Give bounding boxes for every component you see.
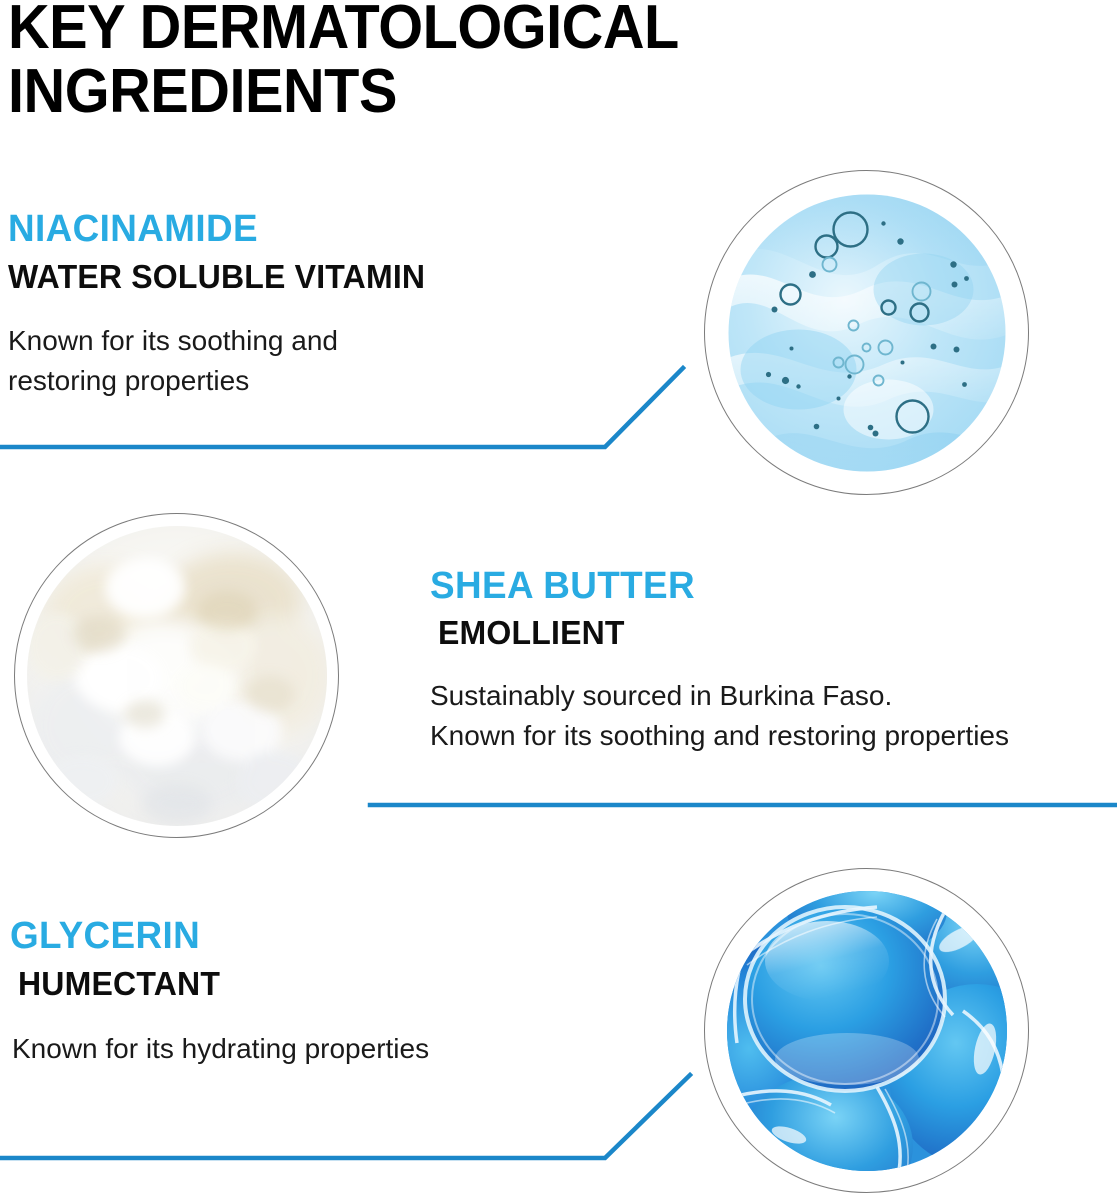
ingredient-subtitle-niacinamide: WATER SOLUBLE VITAMIN xyxy=(8,258,425,296)
ingredients-infographic: KEY DERMATOLOGICAL INGREDIENTS xyxy=(0,0,1117,1200)
ingredient-description-glycerin: Known for its hydrating properties xyxy=(12,1029,429,1069)
ingredient-subtitle-shea-butter: EMOLLIENT xyxy=(438,614,992,652)
ingredient-subtitle-glycerin: HUMECTANT xyxy=(18,965,417,1003)
shea-butter-swatch xyxy=(14,513,339,838)
niacinamide-gel-swatch xyxy=(704,170,1029,495)
page-title: KEY DERMATOLOGICAL INGREDIENTS xyxy=(8,0,919,124)
ingredient-block-glycerin: GLYCERIN HUMECTANT Known for its hydrati… xyxy=(10,915,429,1069)
glycerin-bubbles-texture xyxy=(727,891,1007,1171)
niacinamide-gel-texture xyxy=(728,194,1005,471)
glycerin-swatch xyxy=(704,868,1029,1193)
shea-butter-texture xyxy=(27,526,327,826)
ingredient-name-glycerin: GLYCERIN xyxy=(10,915,417,957)
ingredient-block-shea-butter: SHEA BUTTER EMOLLIENT Sustainably source… xyxy=(430,565,1009,756)
connector-glycerin xyxy=(0,1075,690,1158)
ingredient-description-niacinamide: Known for its soothing and restoring pro… xyxy=(8,321,438,401)
ingredient-name-niacinamide: NIACINAMIDE xyxy=(8,208,425,250)
ingredient-description-shea-butter: Sustainably sourced in Burkina Faso. Kno… xyxy=(430,676,1009,756)
ingredient-name-shea-butter: SHEA BUTTER xyxy=(430,565,992,607)
ingredient-block-niacinamide: NIACINAMIDE WATER SOLUBLE VITAMIN Known … xyxy=(8,208,438,401)
